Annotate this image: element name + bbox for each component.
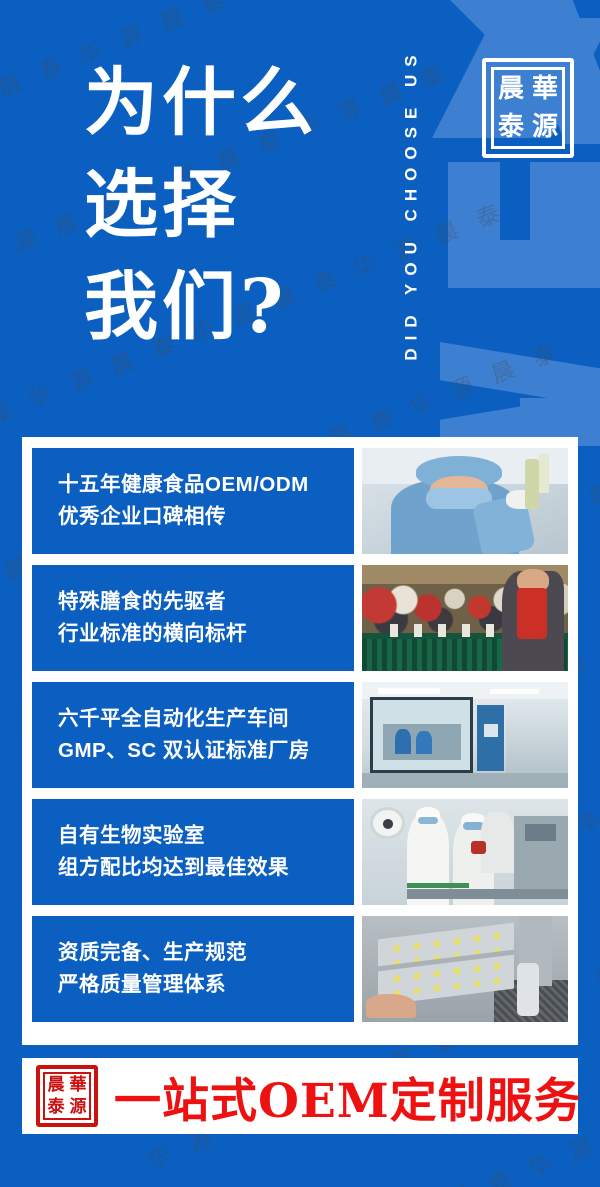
feature-card-line2: 行业标准的横向标杆 [58, 618, 354, 650]
poster-header: 为什么 选择 我们? DID YOU CHOOSE US 晨 華 泰 源 [0, 0, 600, 437]
watermark-tile: 华 源 晨 泰 [171, 1170, 389, 1187]
feature-card-line2: 优秀企业口碑相传 [58, 501, 354, 533]
brand-seal-red: 晨 華 泰 源 [36, 1065, 98, 1127]
watermark-tile: 华 源 晨 泰 [552, 1177, 600, 1187]
feature-card-photo-tablet-blister-machine [362, 916, 568, 1022]
feature-card-line1: 十五年健康食品OEM/ODM [58, 469, 354, 501]
title-line-3: 我们? [84, 256, 384, 358]
seal-char-3: 泰 [48, 1099, 65, 1116]
feature-card[interactable]: 特殊膳食的先驱者 行业标准的横向标杆 [32, 565, 568, 671]
feature-card[interactable]: 十五年健康食品OEM/ODM 优秀企业口碑相传 [32, 448, 568, 554]
brand-seal-white: 晨 華 泰 源 [482, 58, 574, 158]
feature-card-text: 十五年健康食品OEM/ODM 优秀企业口碑相传 [32, 448, 354, 554]
seal-char-3: 泰 [498, 114, 524, 140]
feature-card-photo-cleanroom-corridor [362, 682, 568, 788]
feature-card-text: 六千平全自动化生产车间 GMP、SC 双认证标准厂房 [32, 682, 354, 788]
brand-seal-red-inner: 晨 華 泰 源 [43, 1072, 91, 1120]
feature-card[interactable]: 自有生物实验室 组方配比均达到最佳效果 [32, 799, 568, 905]
feature-card-line2: 严格质量管理体系 [58, 969, 354, 1001]
seal-char-1: 晨 [48, 1077, 65, 1094]
feature-card-text: 自有生物实验室 组方配比均达到最佳效果 [32, 799, 354, 905]
bottom-cta-text: 一站式OEM定制服务 [114, 1062, 582, 1131]
seal-char-2: 華 [70, 1077, 87, 1094]
poster-root: 为什么 选择 我们? DID YOU CHOOSE US 晨 華 泰 源 十五年… [0, 0, 600, 1187]
feature-card-line1: 特殊膳食的先驱者 [58, 586, 354, 618]
title-line-1: 为什么 [84, 52, 384, 154]
seal-char-4: 源 [532, 114, 558, 140]
feature-card-line2: GMP、SC 双认证标准厂房 [58, 735, 354, 767]
brand-seal-white-inner: 晨 華 泰 源 [491, 67, 565, 149]
feature-card-line1: 六千平全自动化生产车间 [58, 703, 354, 735]
vertical-english-caption: DID YOU CHOOSE US [392, 14, 432, 394]
seal-char-1: 晨 [498, 76, 524, 102]
feature-card-text: 特殊膳食的先驱者 行业标准的横向标杆 [32, 565, 354, 671]
feature-card-list: 十五年健康食品OEM/ODM 优秀企业口碑相传 特殊膳食的先驱者 行业标准的横向… [22, 437, 578, 1045]
vertical-english-text: DID YOU CHOOSE US [402, 47, 422, 360]
bottom-cta-banner[interactable]: 晨 華 泰 源 一站式OEM定制服务 [22, 1058, 578, 1134]
feature-card-line2: 组方配比均达到最佳效果 [58, 852, 354, 884]
feature-card-photo-lab-technician-pipette [362, 448, 568, 554]
feature-card-line1: 自有生物实验室 [58, 820, 354, 852]
feature-card-photo-conference-audience [362, 565, 568, 671]
seal-char-4: 源 [70, 1099, 87, 1116]
feature-card-line1: 资质完备、生产规范 [58, 937, 354, 969]
feature-card[interactable]: 资质完备、生产规范 严格质量管理体系 [32, 916, 568, 1022]
feature-card[interactable]: 六千平全自动化生产车间 GMP、SC 双认证标准厂房 [32, 682, 568, 788]
feature-card-text: 资质完备、生产规范 严格质量管理体系 [32, 916, 354, 1022]
title-line-2: 选择 [84, 154, 384, 256]
seal-char-2: 華 [532, 76, 558, 102]
page-title: 为什么 选择 我们? [84, 52, 384, 358]
feature-card-photo-technicians-production-line [362, 799, 568, 905]
